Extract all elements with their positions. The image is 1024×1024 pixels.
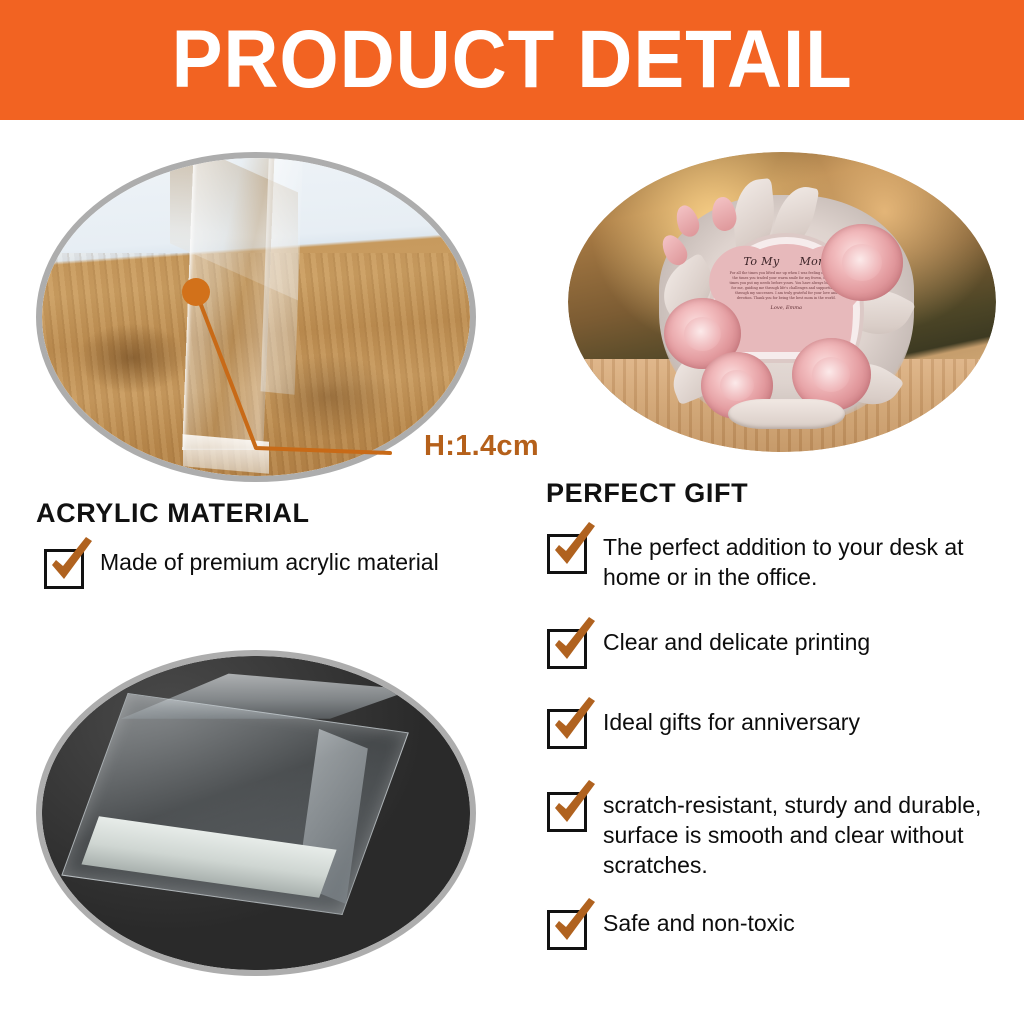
feature-item-gift-2: Clear and delicate printing (547, 627, 999, 669)
checkbox-checked-icon (44, 549, 84, 589)
feature-item-acrylic-1: Made of premium acrylic material (44, 547, 514, 589)
checkbox-checked-icon (547, 534, 587, 574)
page-title: PRODUCT DETAIL (172, 19, 853, 101)
heart-signature: Love, Emma (728, 305, 845, 311)
plaque-base-plinth (728, 399, 845, 429)
checkbox-checked-icon (547, 709, 587, 749)
checkbox-checked-icon (547, 792, 587, 832)
feature-text: Ideal gifts for anniversary (603, 707, 860, 737)
section-title-perfect-gift: PERFECT GIFT (546, 478, 748, 509)
heart-greeting-line1: To My (743, 255, 779, 268)
feature-text: Clear and delicate printing (603, 627, 870, 657)
page-header-banner: PRODUCT DETAIL (0, 0, 1024, 120)
feature-item-gift-4: scratch-resistant, sturdy and durable, s… (547, 790, 999, 880)
rose-top-right (821, 224, 903, 300)
thickness-label: H:1.4cm (424, 430, 539, 463)
callout-dot (182, 278, 210, 306)
feature-text: scratch-resistant, sturdy and durable, s… (603, 790, 999, 880)
section-title-acrylic-material: ACRYLIC MATERIAL (36, 498, 310, 529)
feature-item-gift-3: Ideal gifts for anniversary (547, 707, 999, 749)
feature-item-gift-5: Safe and non-toxic (547, 908, 999, 950)
feature-text: Safe and non-toxic (603, 908, 795, 938)
feature-text: The perfect addition to your desk at hom… (603, 532, 999, 592)
checkbox-checked-icon (547, 910, 587, 950)
rose-heart-plaque-photo: To My Mom For all the times you lifted m… (568, 152, 996, 452)
feature-item-gift-1: The perfect addition to your desk at hom… (547, 532, 999, 592)
product-detail-page: PRODUCT DETAIL H:1.4cm (0, 0, 1024, 1024)
rose-heart-plaque: To My Mom For all the times you lifted m… (654, 185, 919, 431)
acrylic-slab-on-slate-photo (36, 650, 476, 976)
thickness-callout-leader (150, 270, 410, 480)
feature-text: Made of premium acrylic material (100, 547, 439, 577)
callout-line (196, 292, 390, 453)
checkbox-checked-icon (547, 629, 587, 669)
